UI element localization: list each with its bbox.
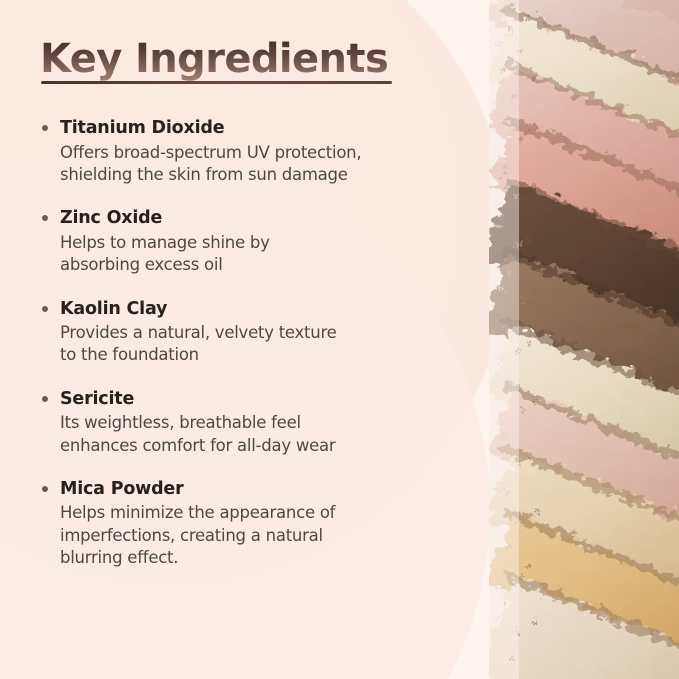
list-item: Kaolin Clay Provides a natural, velvety … bbox=[40, 298, 500, 367]
ingredient-description: Provides a natural, velvety texture to t… bbox=[60, 322, 500, 367]
powder-swatch-image bbox=[489, 0, 679, 679]
ingredient-description: Helps minimize the appearance of imperfe… bbox=[60, 502, 500, 569]
ingredients-infographic: Key Ingredients Titanium Dioxide Offers … bbox=[0, 0, 679, 679]
ingredient-list: Titanium Dioxide Offers broad-spectrum U… bbox=[40, 117, 500, 569]
ingredient-name: Kaolin Clay bbox=[60, 298, 500, 322]
title-underline bbox=[41, 81, 392, 84]
ingredient-name: Zinc Oxide bbox=[60, 207, 500, 231]
list-item: Sericite Its weightless, breathable feel… bbox=[40, 388, 500, 457]
list-item: Titanium Dioxide Offers broad-spectrum U… bbox=[40, 117, 500, 186]
text-column: Key Ingredients Titanium Dioxide Offers … bbox=[0, 0, 500, 679]
bullet-icon bbox=[42, 125, 48, 131]
ingredient-description: Its weightless, breathable feel enhances… bbox=[60, 412, 500, 457]
bullet-icon bbox=[42, 396, 48, 402]
bullet-icon bbox=[42, 486, 48, 492]
page-title-wrapper: Key Ingredients bbox=[40, 38, 388, 81]
bullet-icon bbox=[42, 215, 48, 221]
powder-swatch-graphic bbox=[489, 0, 679, 679]
list-item: Mica Powder Helps minimize the appearanc… bbox=[40, 478, 500, 569]
ingredient-name: Mica Powder bbox=[60, 478, 500, 502]
list-item: Zinc Oxide Helps to manage shine by abso… bbox=[40, 207, 500, 276]
page-title: Key Ingredients bbox=[40, 38, 388, 81]
bullet-icon bbox=[42, 306, 48, 312]
ingredient-description: Offers broad-spectrum UV protection, shi… bbox=[60, 142, 500, 187]
ingredient-name: Sericite bbox=[60, 388, 500, 412]
ingredient-description: Helps to manage shine by absorbing exces… bbox=[60, 232, 500, 277]
ingredient-name: Titanium Dioxide bbox=[60, 117, 500, 141]
